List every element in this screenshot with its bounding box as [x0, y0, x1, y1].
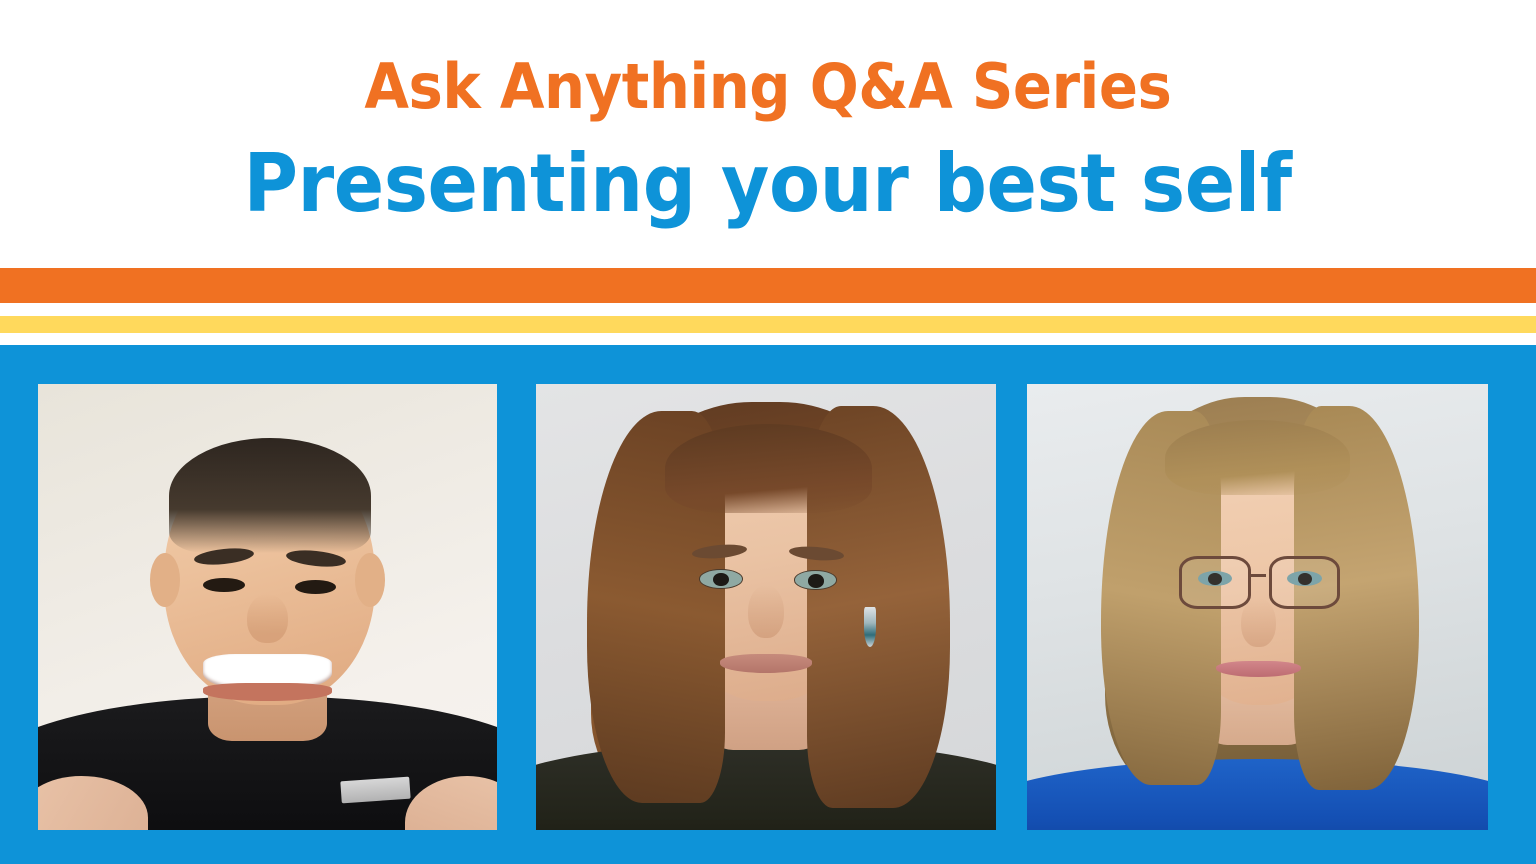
headshot-person-3 — [1027, 384, 1488, 830]
presentation-slide: Ask Anything Q&A Series Presenting your … — [0, 0, 1536, 864]
orange-stripe — [0, 268, 1536, 303]
person-ear-right — [355, 553, 385, 607]
person-pupil-right — [808, 574, 824, 587]
eyeglasses-bridge — [1250, 574, 1267, 577]
headshot-person-2 — [536, 384, 996, 830]
person-hair — [169, 438, 371, 554]
person-torso — [1027, 759, 1488, 830]
page-title: Presenting your best self — [244, 144, 1292, 224]
eyeglasses-lens-left — [1179, 556, 1250, 610]
person-fringe — [665, 424, 872, 513]
person-nose — [748, 585, 785, 639]
person-nose — [1241, 598, 1276, 647]
headshot-person-1 — [38, 384, 497, 830]
person-lower-lip — [203, 683, 332, 701]
eyeglasses-lens-right — [1269, 556, 1340, 610]
photo-panel — [0, 345, 1536, 864]
slide-header: Ask Anything Q&A Series Presenting your … — [0, 0, 1536, 268]
person-mouth — [720, 654, 812, 673]
person-fringe — [1165, 420, 1349, 496]
yellow-stripe — [0, 316, 1536, 333]
person-eye-left — [203, 578, 244, 592]
series-title: Ask Anything Q&A Series — [365, 56, 1172, 118]
person-nose — [247, 594, 288, 643]
